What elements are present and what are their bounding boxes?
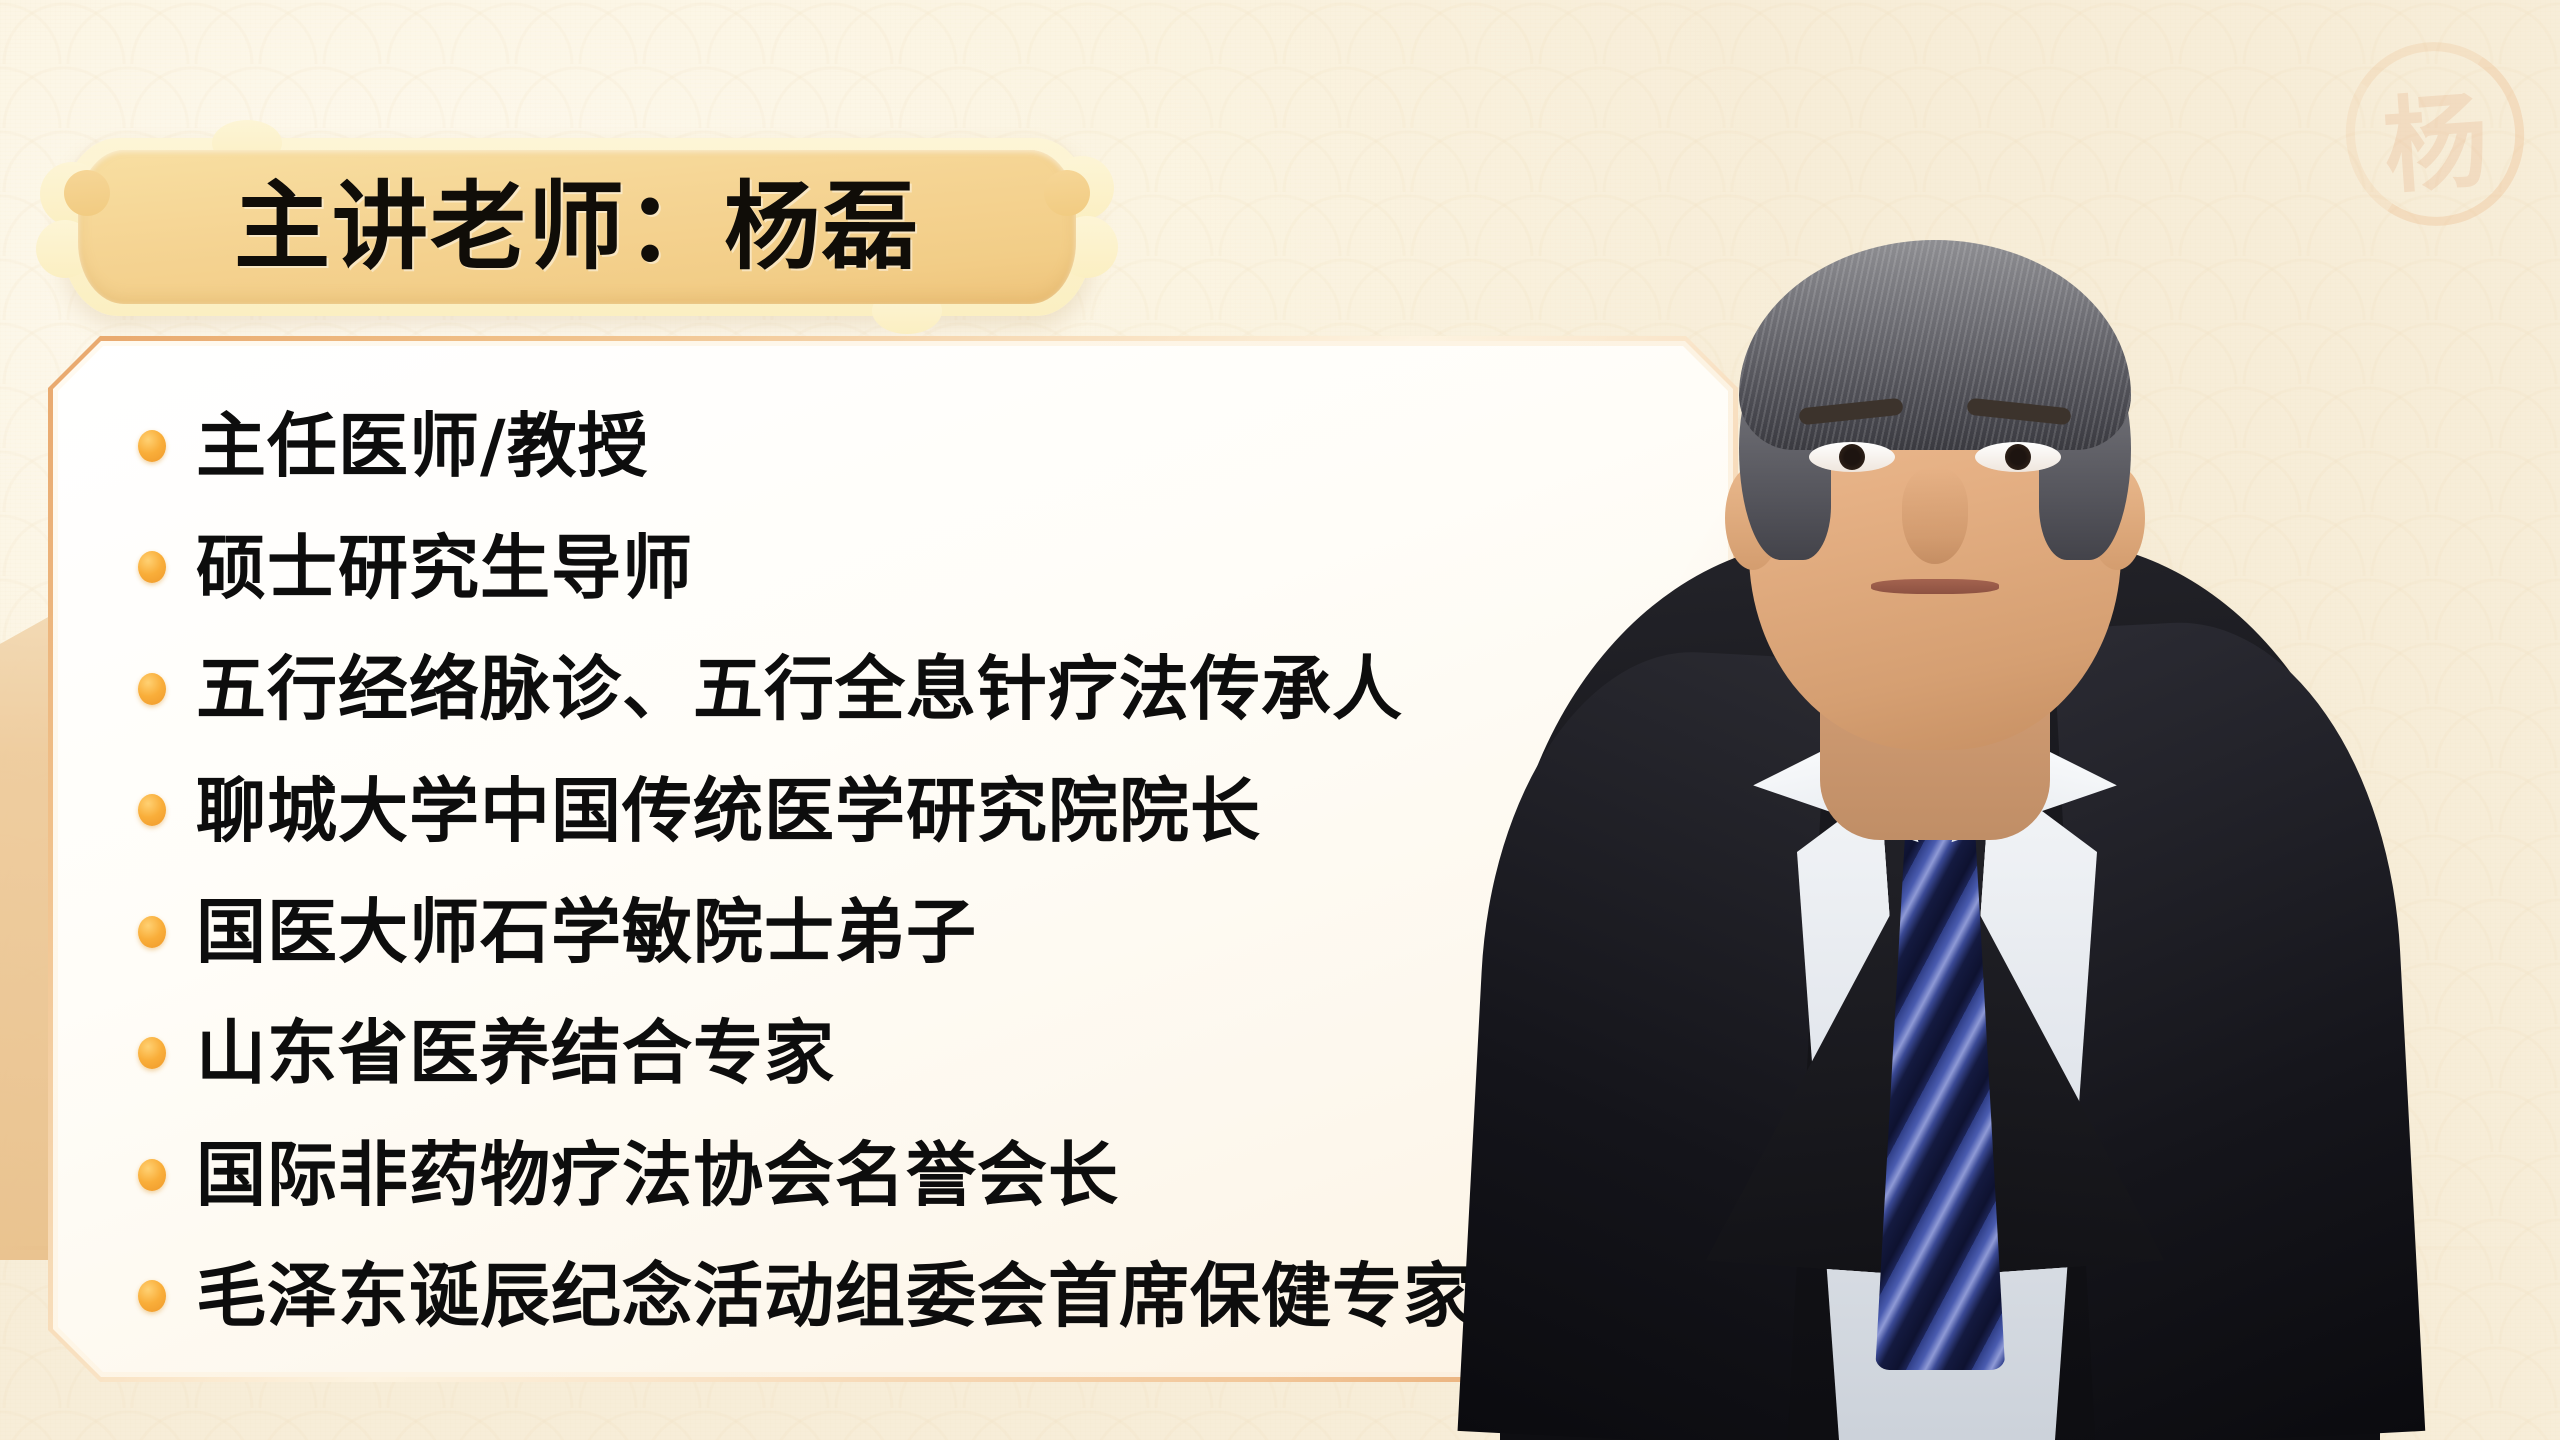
bullet-dot-icon xyxy=(138,1280,166,1312)
list-item-label: 聊城大学中国传统医学研究院院长 xyxy=(196,774,1261,848)
list-item-label: 国际非药物疗法协会名誉会长 xyxy=(196,1138,1119,1212)
list-item: 硕士研究生导师 xyxy=(138,511,1712,623)
bullet-dot-icon xyxy=(138,916,166,948)
seal-stamp-icon: 杨 xyxy=(2340,36,2530,232)
slide-canvas: 杨 主讲老师：杨磊 主任医师/教授 硕士 xyxy=(0,0,2560,1440)
credentials-card: 主任医师/教授 硕士研究生导师 五行经络脉诊、五行全息针疗法传承人 聊城大学中国… xyxy=(48,336,1738,1382)
plaque-inner-bump xyxy=(64,170,110,216)
list-item-label: 五行经络脉诊、五行全息针疗法传承人 xyxy=(196,652,1403,726)
list-item-label: 主任医师/教授 xyxy=(196,409,649,483)
list-item-label: 毛泽东诞辰纪念活动组委会首席保健专家 xyxy=(196,1259,1474,1333)
page-title: 主讲老师：杨磊 xyxy=(234,179,920,275)
list-item: 山东省医养结合专家 xyxy=(138,997,1712,1109)
credentials-list: 主任医师/教授 硕士研究生导师 五行经络脉诊、五行全息针疗法传承人 聊城大学中国… xyxy=(138,390,1712,1352)
bullet-dot-icon xyxy=(138,1159,166,1191)
list-item-label: 山东省医养结合专家 xyxy=(196,1016,835,1090)
list-item-label: 国医大师石学敏院士弟子 xyxy=(196,895,977,969)
bullet-dot-icon xyxy=(138,430,166,462)
list-item: 国际非药物疗法协会名誉会长 xyxy=(138,1119,1712,1231)
seal-character: 杨 xyxy=(2333,30,2536,239)
plaque-inner-field: 主讲老师：杨磊 xyxy=(78,150,1076,304)
bullet-dot-icon xyxy=(138,794,166,826)
list-item: 聊城大学中国传统医学研究院院长 xyxy=(138,754,1712,866)
bullet-dot-icon xyxy=(138,673,166,705)
plaque-inner-bump xyxy=(1044,170,1090,216)
list-item-label: 硕士研究生导师 xyxy=(196,531,693,605)
list-item: 五行经络脉诊、五行全息针疗法传承人 xyxy=(138,633,1712,745)
bullet-dot-icon xyxy=(138,551,166,583)
bullet-dot-icon xyxy=(138,1037,166,1069)
title-plaque: 主讲老师：杨磊 xyxy=(62,138,1092,316)
list-item: 毛泽东诞辰纪念活动组委会首席保健专家 xyxy=(138,1240,1712,1352)
list-item: 国医大师石学敏院士弟子 xyxy=(138,876,1712,988)
list-item: 主任医师/教授 xyxy=(138,390,1712,502)
